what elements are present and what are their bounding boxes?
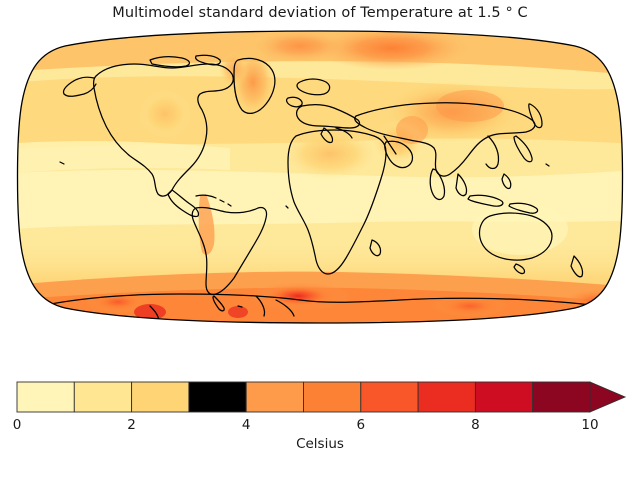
colorbar-band[interactable] <box>74 382 131 412</box>
colorbar-band[interactable] <box>246 382 303 412</box>
world-map-svg <box>0 24 640 344</box>
colorbar-tick-label: 10 <box>581 417 598 433</box>
field-hotspot-levant <box>396 116 428 144</box>
figure-canvas: Multimodel standard deviation of Tempera… <box>0 0 640 480</box>
colorbar-bands[interactable] <box>17 382 625 412</box>
temperature-field <box>0 24 640 344</box>
colorbar-svg: 0246810 Celsius <box>0 370 640 475</box>
colorbar-band[interactable] <box>418 382 475 412</box>
colorbar-tick-labels: 0246810 <box>13 417 599 433</box>
field-hotspot-north-america <box>139 90 191 138</box>
colorbar-tick-label: 4 <box>242 417 251 433</box>
field-hotspot-antarctic-ross <box>228 306 248 318</box>
colorbar-band[interactable] <box>475 382 532 412</box>
colorbar-extend-max-arrow[interactable] <box>590 382 625 412</box>
colorbar-band[interactable] <box>17 382 74 412</box>
colorbar-tick-label: 0 <box>13 417 22 433</box>
colorbar-tick-label: 6 <box>357 417 366 433</box>
colorbar-band[interactable] <box>189 382 246 412</box>
colorbar-band[interactable] <box>533 382 590 412</box>
colorbar-panel: 0246810 Celsius <box>0 370 640 475</box>
colorbar-band[interactable] <box>304 382 361 412</box>
colorbar-label: Celsius <box>296 436 344 452</box>
colorbar-band[interactable] <box>132 382 189 412</box>
colorbar-tick-label: 2 <box>127 417 136 433</box>
figure-title: Multimodel standard deviation of Tempera… <box>0 5 640 21</box>
map-panel <box>0 24 640 344</box>
colorbar-tick-label: 8 <box>471 417 480 433</box>
colorbar-band[interactable] <box>361 382 418 412</box>
